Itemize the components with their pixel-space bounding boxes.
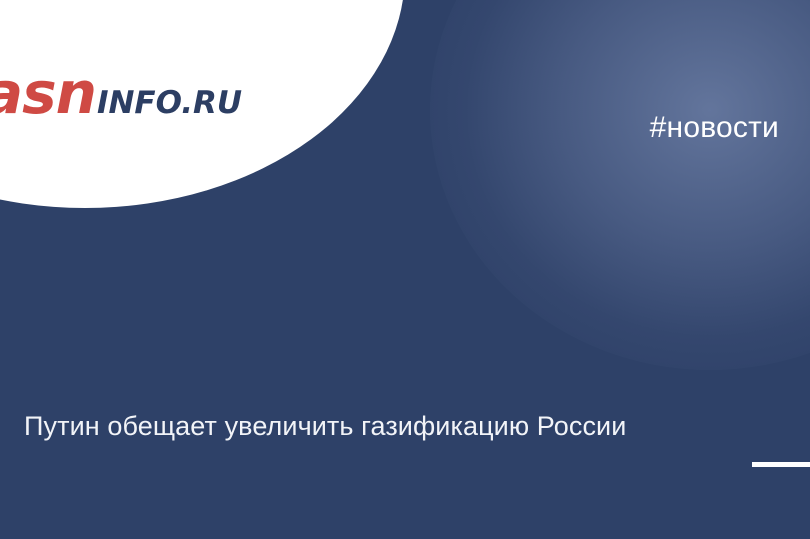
logo-domain-suffix: INFO.RU [97,88,242,119]
hashtag-label[interactable]: #новости [650,111,779,145]
site-logo[interactable]: asn INFO.RU [0,64,242,126]
news-card: asn INFO.RU #новости Путин обещает увели… [0,0,810,539]
background-glow [430,0,810,370]
headline-text: Путин обещает увеличить газификацию Росс… [24,411,626,442]
accent-rule [752,462,810,467]
logo-wordmark: asn [0,64,96,122]
